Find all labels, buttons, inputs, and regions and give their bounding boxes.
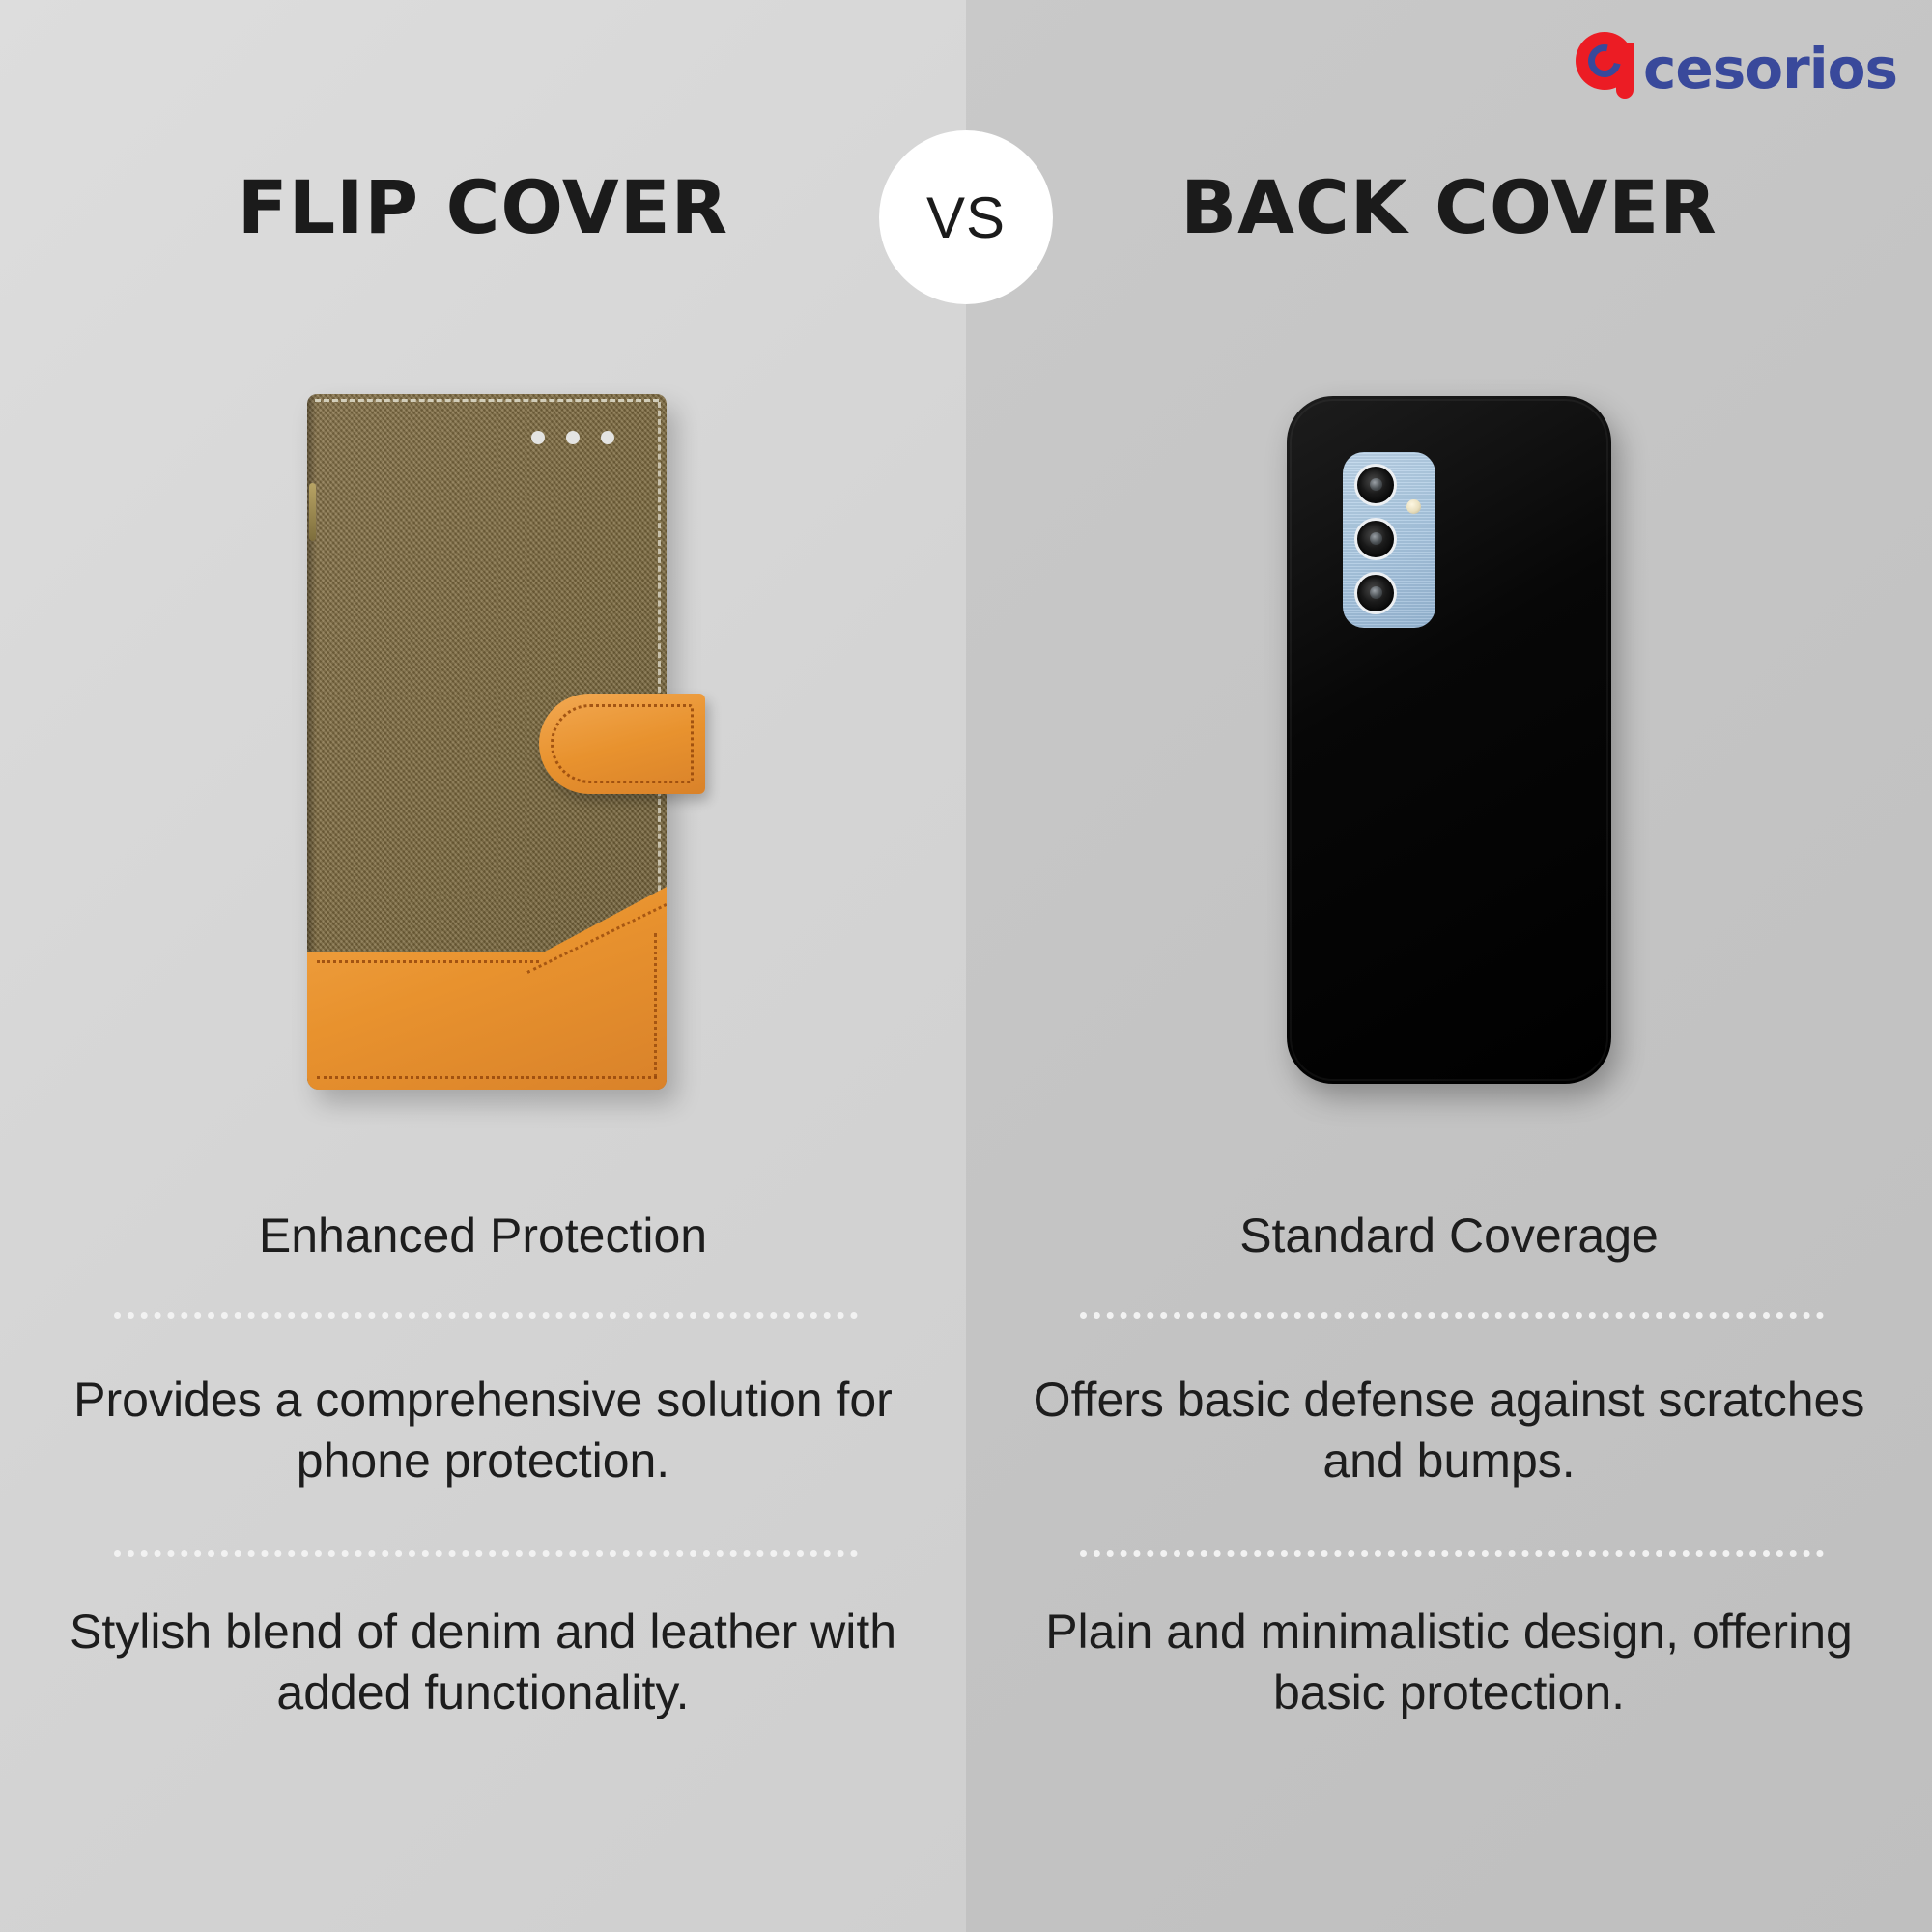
brand-logo[interactable]: cesorios bbox=[1576, 29, 1897, 100]
vs-badge: VS bbox=[879, 130, 1053, 304]
right-divider-1 bbox=[1080, 1312, 1824, 1319]
right-feature-text-2: Plain and minimalistic design, offering … bbox=[1024, 1602, 1874, 1723]
back-cover-product-image bbox=[1287, 396, 1611, 1084]
camera-module bbox=[1343, 452, 1435, 628]
flip-cover-magnetic-clasp bbox=[539, 694, 705, 794]
right-feature-text-1: Offers basic defense against scratches a… bbox=[1024, 1370, 1874, 1492]
left-feature-text-1: Provides a comprehensive solution for ph… bbox=[58, 1370, 908, 1492]
left-divider-1 bbox=[114, 1312, 858, 1319]
left-column-title: FLIP COVER bbox=[0, 164, 966, 250]
camera-lens-icon bbox=[1354, 518, 1397, 560]
flip-cover-side-stitching bbox=[658, 402, 661, 943]
flip-cover-hinge bbox=[309, 483, 316, 541]
brand-wordmark: cesorios bbox=[1643, 41, 1897, 97]
right-divider-2 bbox=[1080, 1550, 1824, 1557]
right-column-title: BACK COVER bbox=[966, 164, 1932, 250]
left-feature-text-2: Stylish blend of denim and leather with … bbox=[58, 1602, 908, 1723]
left-feature-heading: Enhanced Protection bbox=[0, 1207, 966, 1264]
flip-cover-card-slot-dots bbox=[531, 431, 614, 444]
flip-cover-leather-stitching bbox=[307, 887, 667, 1090]
left-divider-2 bbox=[114, 1550, 858, 1557]
comparison-infographic: cesorios FLIP COVER BACK COVER VS Enhanc… bbox=[0, 0, 1932, 1932]
camera-flash-icon bbox=[1406, 499, 1421, 514]
camera-lens-icon bbox=[1354, 464, 1397, 506]
right-feature-heading: Standard Coverage bbox=[966, 1207, 1932, 1264]
acesorios-a-logo-icon bbox=[1576, 29, 1647, 100]
flip-cover-top-stitching bbox=[315, 399, 659, 402]
camera-lens-icon bbox=[1354, 572, 1397, 614]
